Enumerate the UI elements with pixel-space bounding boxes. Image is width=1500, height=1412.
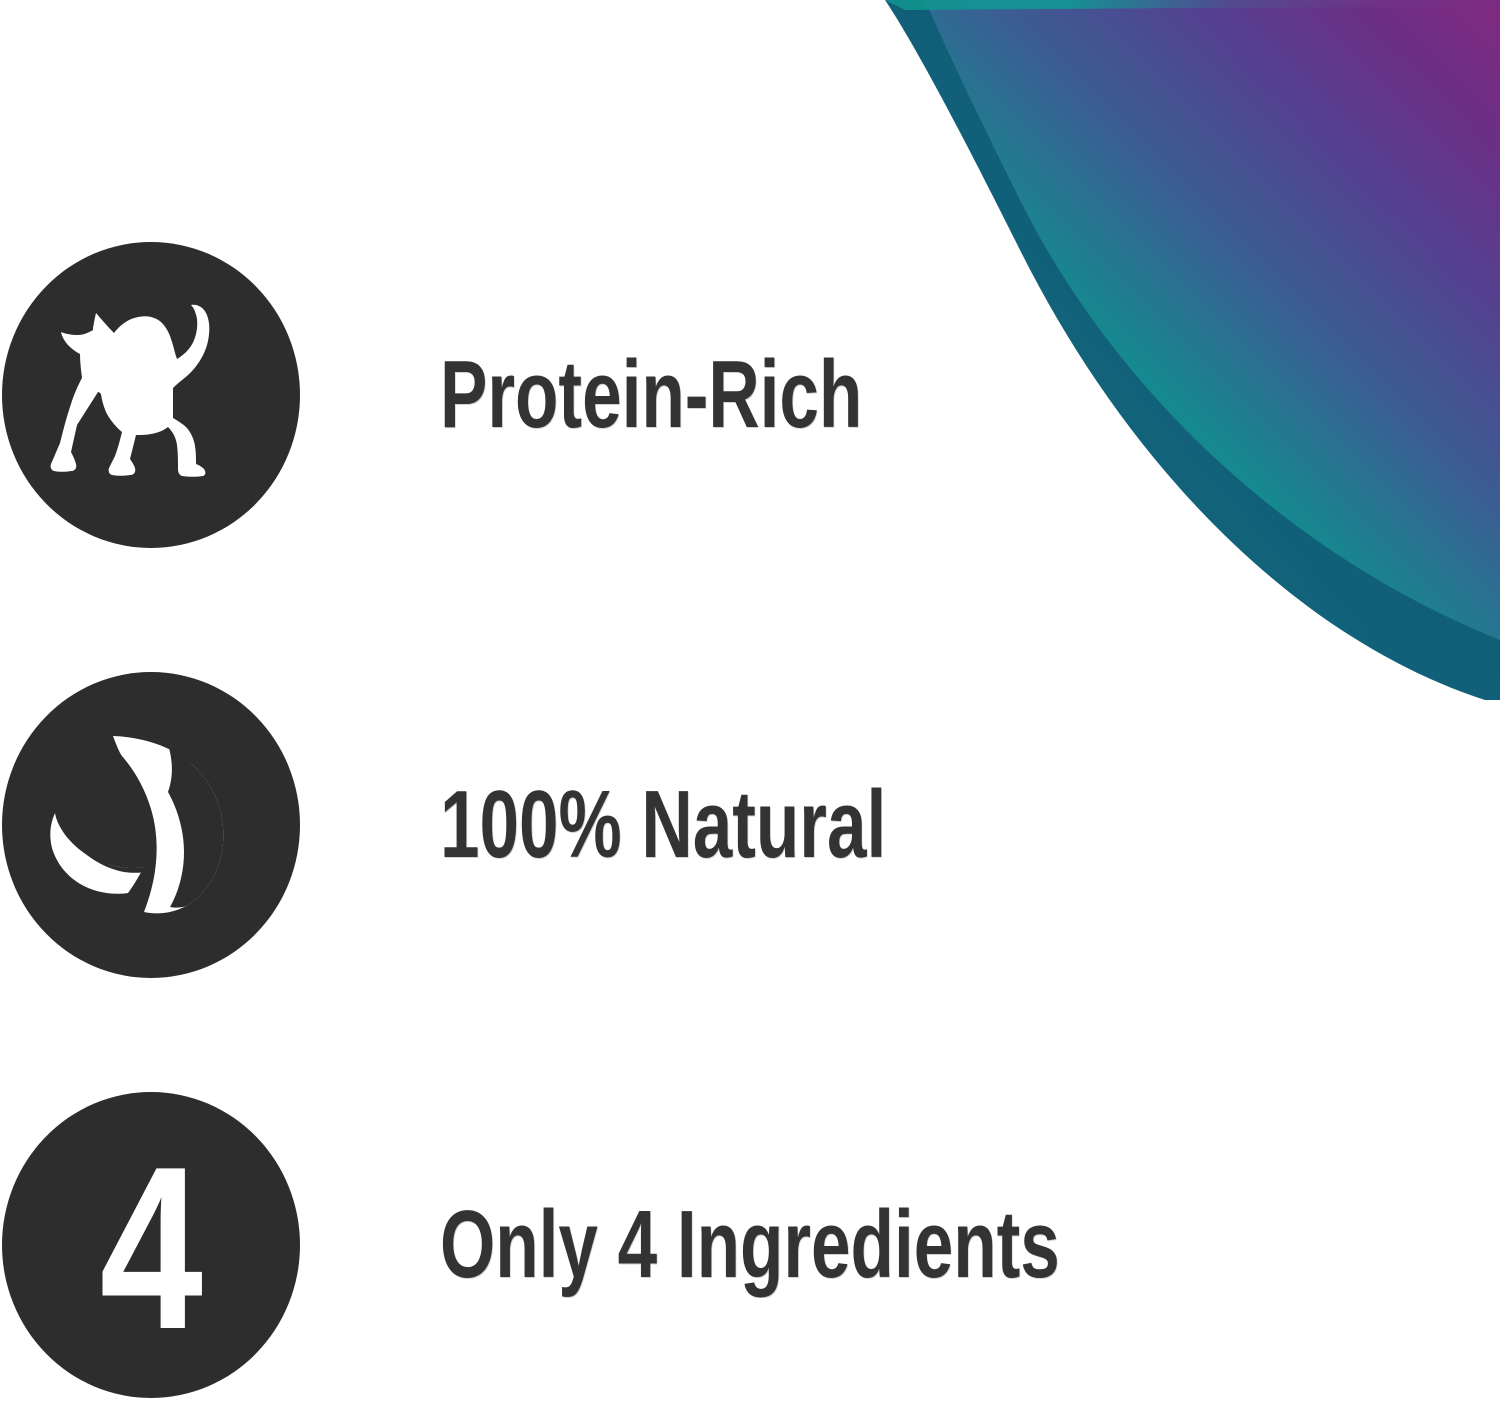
cat-icon-badge [2, 242, 300, 548]
feature-row: 4 Only 4 Ingredients [0, 1092, 1500, 1398]
swoosh-top-highlight [885, 0, 1500, 10]
feature-label: 100% Natural [440, 777, 886, 873]
feature-label: Only 4 Ingredients [440, 1197, 1060, 1293]
feature-label: Protein-Rich [440, 347, 862, 443]
cat-icon [46, 300, 256, 490]
leaf-icon-badge [2, 672, 300, 978]
feature-row: Protein-Rich [0, 242, 1500, 548]
number-four-icon-badge: 4 [2, 1092, 300, 1398]
feature-row: 100% Natural [0, 672, 1500, 978]
number-four-icon: 4 [100, 1133, 202, 1365]
leaf-icon [36, 720, 266, 930]
product-feature-highlights-panel: Protein-Rich 100% Natural 4 Only 4 Ingre… [0, 0, 1500, 1412]
